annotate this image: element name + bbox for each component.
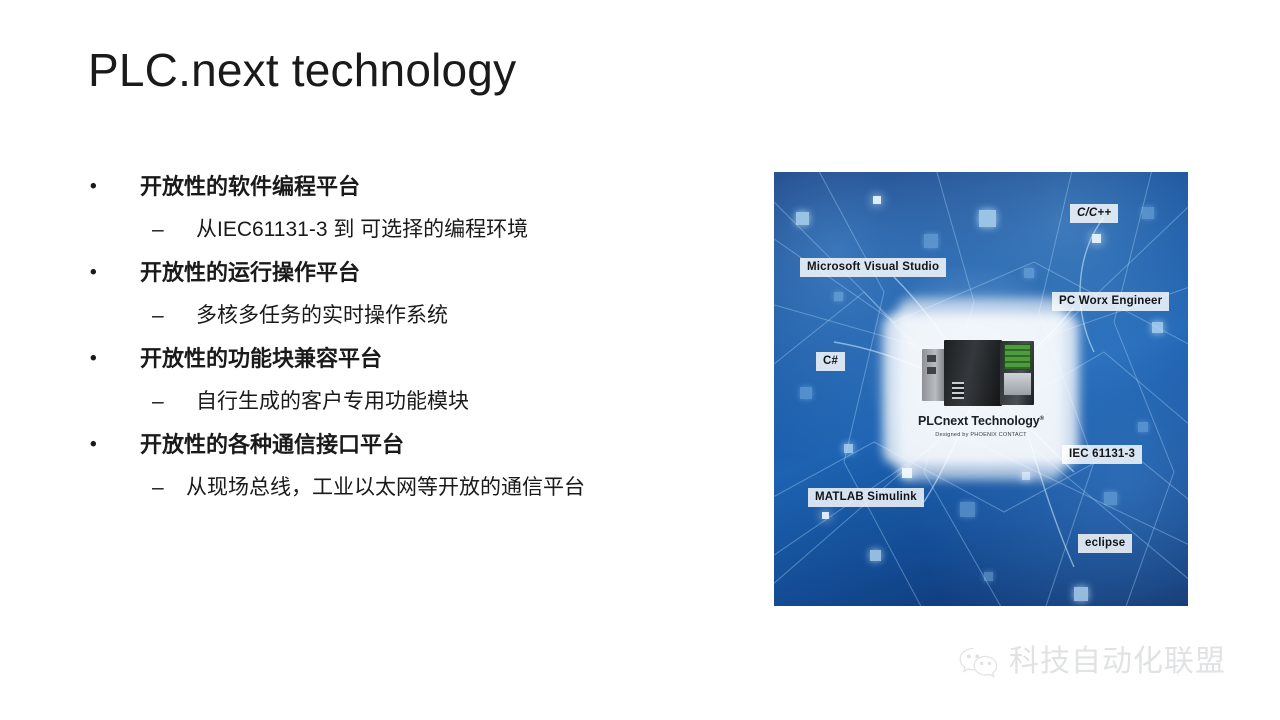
bullet-item-4-label: 开放性的各种通信接口平台 bbox=[140, 424, 744, 466]
tag-matlab-simulink: MATLAB Simulink bbox=[808, 488, 924, 507]
product-byline: Designed by PHOENIX CONTACT bbox=[886, 432, 1076, 438]
bullet-list: • 开放性的软件编程平台 – 从IEC61131-3 到 可选择的编程环境 • … bbox=[84, 166, 744, 510]
sub-bullet-item-1: – 从IEC61131-3 到 可选择的编程环境 bbox=[84, 208, 744, 252]
watermark: 科技自动化联盟 bbox=[958, 645, 1226, 679]
glow-square bbox=[984, 572, 993, 581]
sub-bullet-item-2: – 多核多任务的实时操作系统 bbox=[84, 294, 744, 338]
watermark-text: 科技自动化联盟 bbox=[1009, 645, 1226, 679]
figure-background: PLCnext Technology® Designed by PHOENIX … bbox=[774, 172, 1188, 606]
glow-square bbox=[844, 444, 853, 453]
glow-square bbox=[1152, 322, 1163, 333]
bullet-item-3: • 开放性的功能块兼容平台 bbox=[84, 338, 744, 380]
sub-bullet-dash-icon: – bbox=[84, 380, 156, 424]
glow-square bbox=[960, 502, 975, 517]
bullet-group-4: • 开放性的各种通信接口平台 – 从现场总线，工业以太网等开放的通信平台 bbox=[84, 424, 744, 510]
sub-bullet-item-2-label: 多核多任务的实时操作系统 bbox=[156, 294, 744, 338]
plc-controller-icon bbox=[922, 340, 1040, 406]
bullet-group-2: • 开放性的运行操作平台 – 多核多任务的实时操作系统 bbox=[84, 252, 744, 338]
sub-bullet-dash-icon: – bbox=[84, 466, 156, 510]
glow-square bbox=[834, 292, 843, 301]
glow-square bbox=[822, 512, 829, 519]
glow-square bbox=[1138, 422, 1148, 432]
glow-square bbox=[1142, 207, 1154, 219]
glow-square bbox=[924, 234, 938, 248]
tag-eclipse: eclipse bbox=[1078, 534, 1132, 553]
glow-square bbox=[800, 387, 812, 399]
registered-mark: ® bbox=[1040, 416, 1044, 422]
tag-csharp: C# bbox=[816, 352, 845, 371]
plcnext-product: PLCnext Technology® Designed by PHOENIX … bbox=[886, 340, 1076, 438]
sub-bullet-item-4-label: 从现场总线，工业以太网等开放的通信平台 bbox=[156, 466, 744, 510]
tag-iec-61131-3: IEC 61131-3 bbox=[1062, 445, 1142, 464]
glow-square bbox=[1092, 234, 1101, 243]
sub-bullet-item-3: – 自行生成的客户专用功能模块 bbox=[84, 380, 744, 424]
glow-square bbox=[873, 196, 881, 204]
wechat-icon bbox=[958, 645, 1000, 679]
plcnext-figure: PLCnext Technology® Designed by PHOENIX … bbox=[770, 168, 1192, 610]
sub-bullet-dash-icon: – bbox=[84, 294, 156, 338]
product-name: PLCnext Technology® bbox=[918, 414, 1044, 428]
glow-square bbox=[1104, 492, 1117, 505]
tag-pc-worx-engineer: PC Worx Engineer bbox=[1052, 292, 1169, 311]
tag-visual-studio: Microsoft Visual Studio bbox=[800, 258, 946, 277]
bullet-item-1: • 开放性的软件编程平台 bbox=[84, 166, 744, 208]
sub-bullet-item-3-label: 自行生成的客户专用功能模块 bbox=[156, 380, 744, 424]
product-name-text: PLCnext Technology bbox=[918, 414, 1040, 428]
page-title: PLC.next technology bbox=[88, 42, 516, 98]
sub-bullet-item-4: – 从现场总线，工业以太网等开放的通信平台 bbox=[84, 466, 744, 510]
bullet-item-3-label: 开放性的功能块兼容平台 bbox=[140, 338, 744, 380]
glow-square bbox=[796, 212, 809, 225]
glow-square bbox=[979, 210, 996, 227]
bullet-item-2: • 开放性的运行操作平台 bbox=[84, 252, 744, 294]
sub-bullet-item-1-label: 从IEC61131-3 到 可选择的编程环境 bbox=[156, 208, 744, 252]
slide-canvas: PLC.next technology • 开放性的软件编程平台 – 从IEC6… bbox=[0, 0, 1280, 720]
glow-square bbox=[1074, 587, 1088, 601]
glow-square bbox=[1024, 268, 1034, 278]
bullet-group-1: • 开放性的软件编程平台 – 从IEC61131-3 到 可选择的编程环境 bbox=[84, 166, 744, 252]
bullet-marker-icon: • bbox=[84, 252, 140, 294]
bullet-item-1-label: 开放性的软件编程平台 bbox=[140, 166, 744, 208]
bullet-marker-icon: • bbox=[84, 166, 140, 208]
bullet-marker-icon: • bbox=[84, 424, 140, 466]
bullet-item-2-label: 开放性的运行操作平台 bbox=[140, 252, 744, 294]
bullet-item-4: • 开放性的各种通信接口平台 bbox=[84, 424, 744, 466]
sub-bullet-dash-icon: – bbox=[84, 208, 156, 252]
bullet-group-3: • 开放性的功能块兼容平台 – 自行生成的客户专用功能模块 bbox=[84, 338, 744, 424]
bullet-marker-icon: • bbox=[84, 338, 140, 380]
tag-c-cpp: C/C++ bbox=[1070, 204, 1118, 223]
glow-square bbox=[870, 550, 881, 561]
